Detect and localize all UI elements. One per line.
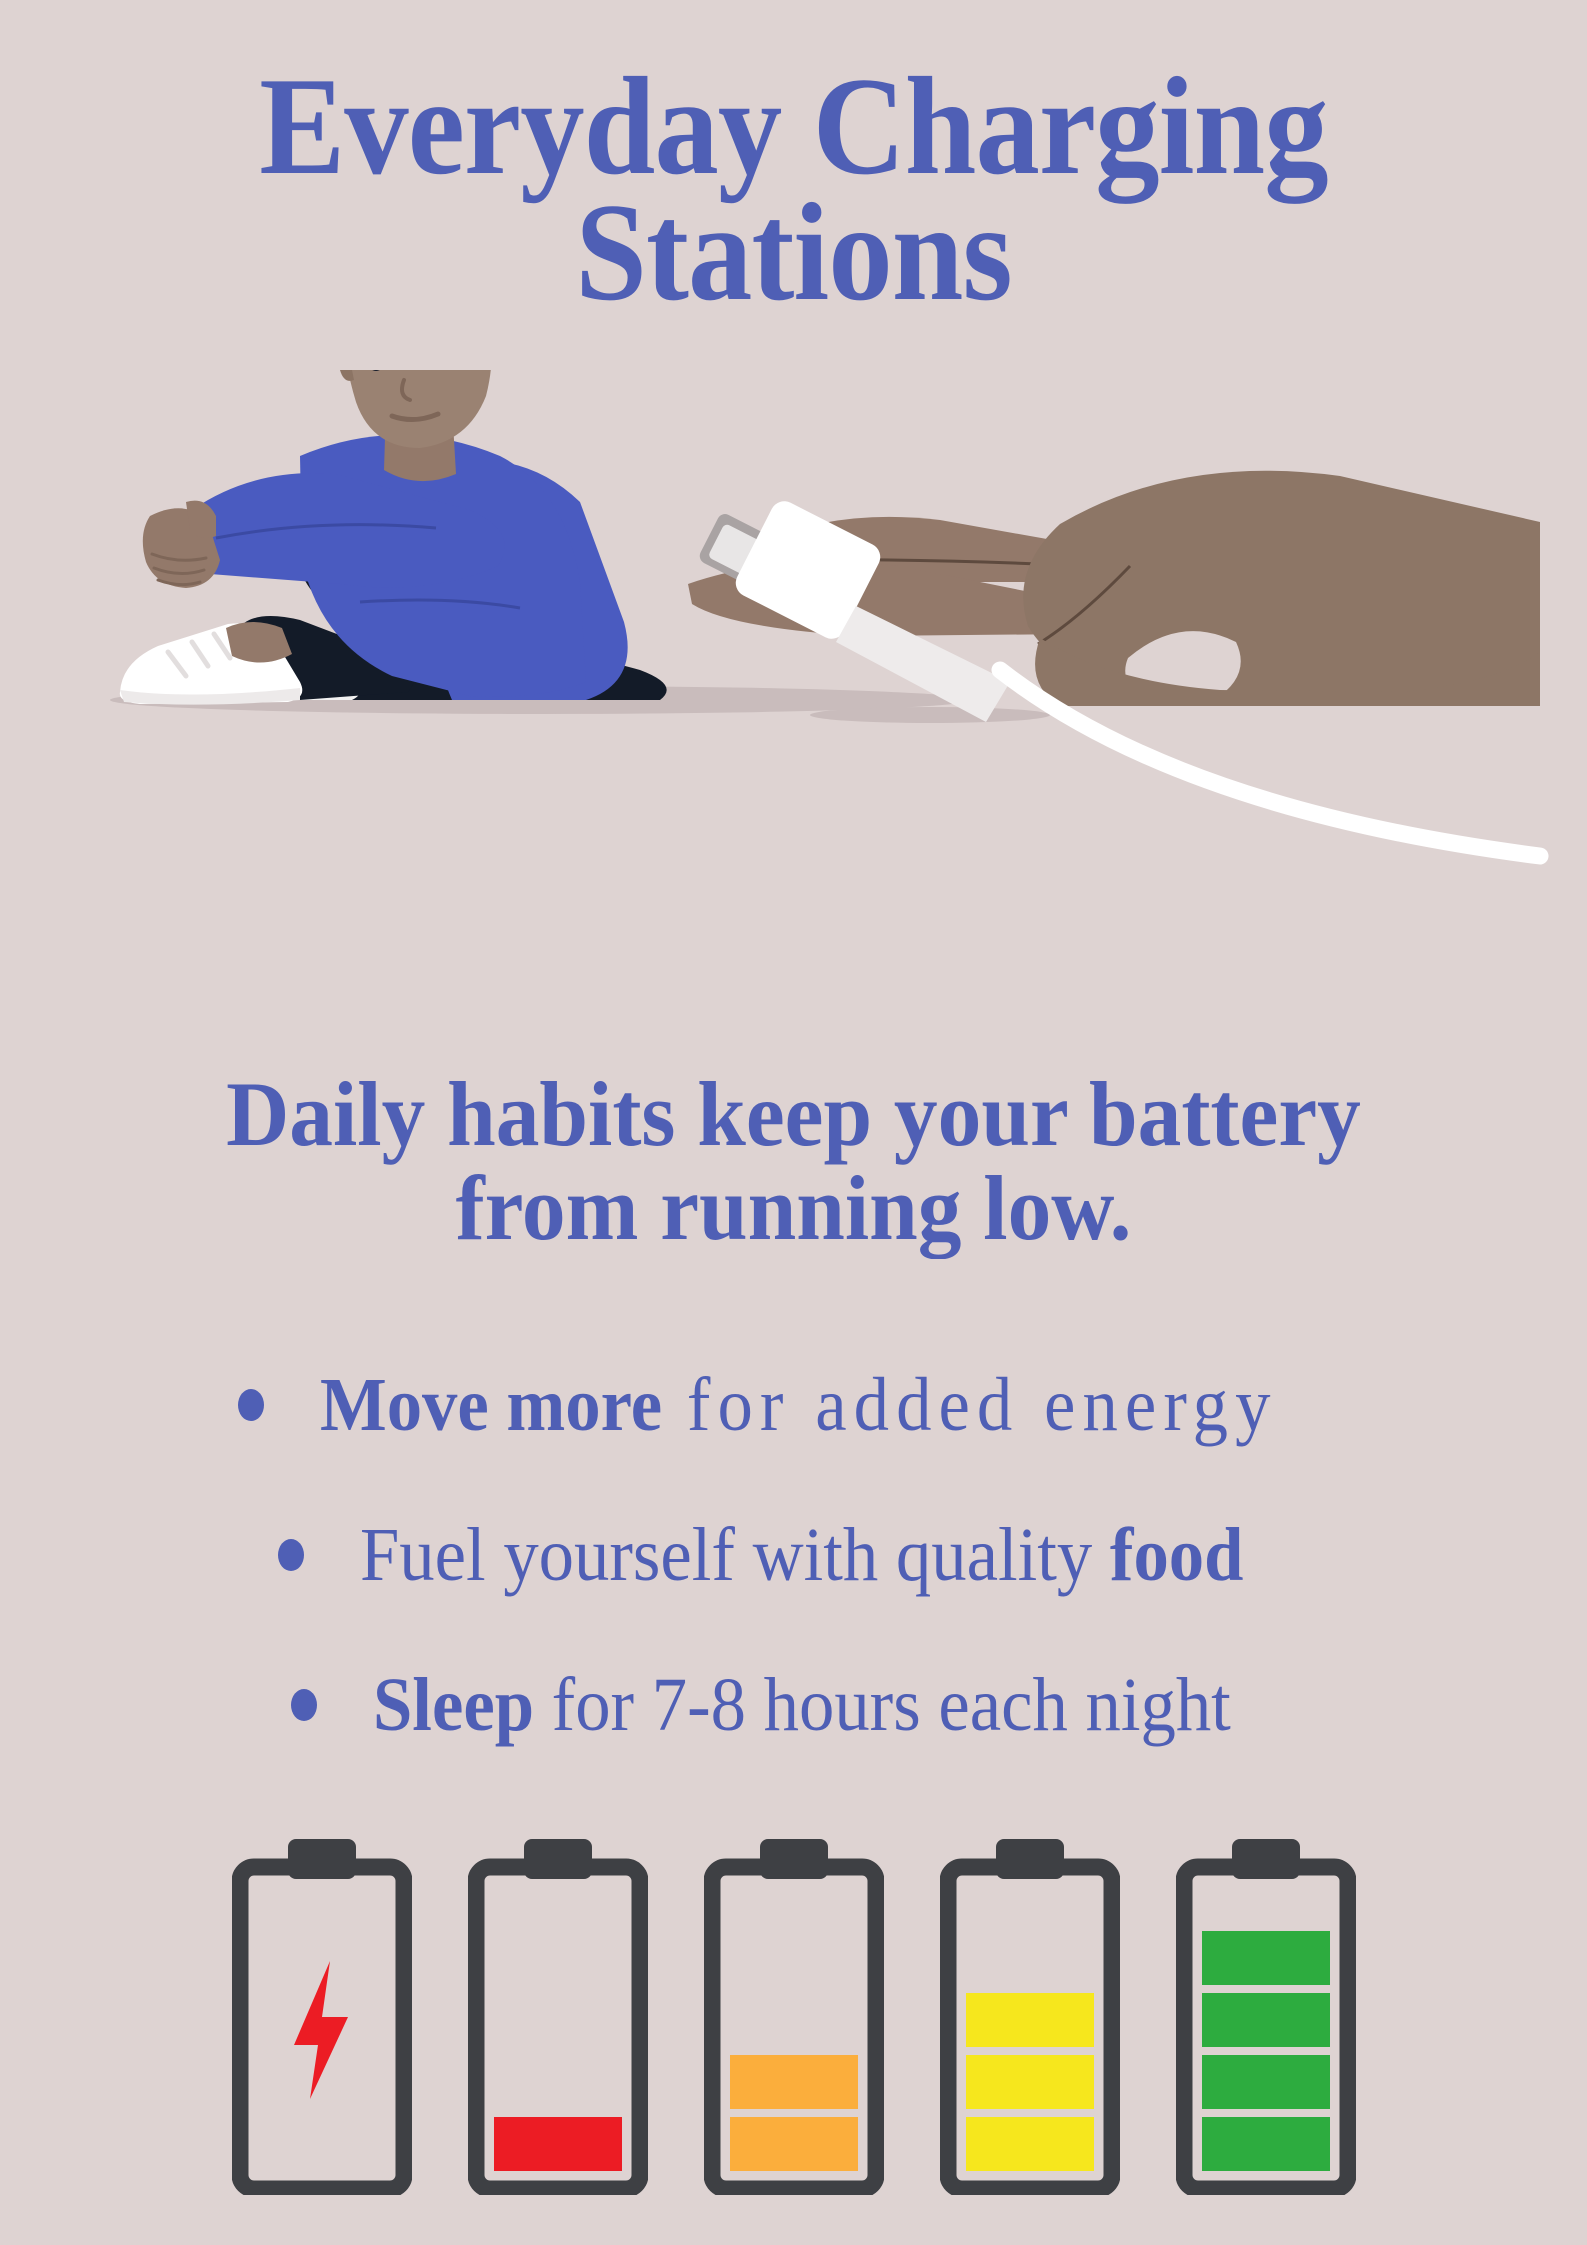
bullet-1-bold: Move more [320, 1363, 662, 1447]
title-line-2: Stations [63, 190, 1523, 316]
list-item: Fuel yourself with quality food [0, 1480, 1587, 1630]
battery-bar-2 [1202, 2055, 1330, 2109]
bullet-text-2: Fuel yourself with quality food [360, 1517, 1243, 1593]
bullet-dot-icon [278, 1539, 304, 1571]
battery-meter-row [0, 1835, 1587, 2195]
battery-bar-2 [966, 2055, 1094, 2109]
battery-bar-1 [1202, 2117, 1330, 2171]
bullet-2-bold: food [1109, 1513, 1243, 1597]
list-item: Move more for added energy [0, 1330, 1587, 1480]
battery-bar-1 [730, 2117, 858, 2171]
battery-bar-1 [494, 2117, 622, 2171]
battery-bar-1 [966, 2117, 1094, 2171]
poster-subtitle: Daily habits keep your battery from runn… [40, 1068, 1548, 1256]
battery-medium [940, 1835, 1120, 2195]
bullet-3-rest: for 7-8 hours each night [534, 1663, 1231, 1747]
battery-full [1176, 1835, 1356, 2195]
bullet-dot-icon [291, 1689, 317, 1721]
battery-empty [232, 1835, 412, 2195]
hand-on-knee [143, 501, 220, 588]
title-line-1: Everyday Charging [63, 64, 1523, 190]
head [338, 370, 495, 448]
poster-canvas: Everyday Charging Stations [0, 0, 1587, 2245]
battery-low [704, 1835, 884, 2195]
list-item: Sleep for 7-8 hours each night [0, 1630, 1587, 1780]
battery-bar-3 [1202, 1993, 1330, 2047]
hero-illustration [0, 370, 1587, 1030]
subtitle-line-2: from running low. [40, 1162, 1548, 1256]
bullet-1-rest: for added energy [662, 1363, 1277, 1447]
bullet-2-rest: Fuel yourself with quality [360, 1513, 1110, 1597]
battery-bar-2 [730, 2055, 858, 2109]
habit-list: Move more for added energy Fuel yourself… [0, 1330, 1587, 1780]
bullet-text-1: Move more for added energy [320, 1367, 1277, 1443]
subtitle-line-1: Daily habits keep your battery [40, 1068, 1548, 1162]
battery-bar-3 [966, 1993, 1094, 2047]
battery-bar-4 [1202, 1931, 1330, 1985]
bullet-text-3: Sleep for 7-8 hours each night [373, 1667, 1231, 1743]
lightning-bolt-icon [294, 1961, 348, 2099]
bullet-3-bold: Sleep [373, 1663, 534, 1747]
ground-shadow-right [810, 707, 1050, 723]
poster-title: Everyday Charging Stations [0, 64, 1587, 316]
battery-critical [468, 1835, 648, 2195]
bullet-dot-icon [238, 1389, 264, 1421]
